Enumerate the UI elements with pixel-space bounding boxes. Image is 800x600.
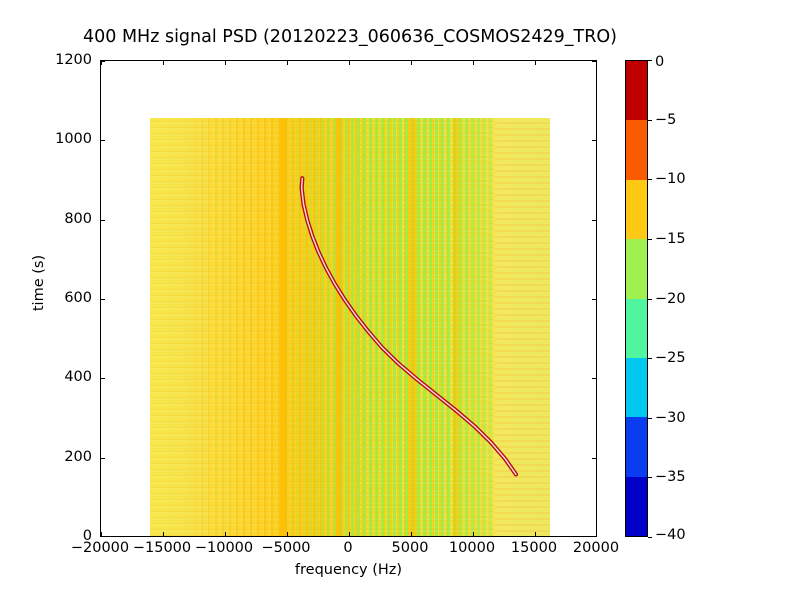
figure-canvas: 400 MHz signal PSD (20120223_060636_COSM…	[0, 0, 800, 600]
colorbar-label-8: −40	[655, 527, 686, 543]
xtick-0	[101, 532, 102, 536]
y-axis-label: time (s)	[31, 223, 47, 343]
colorbar-band-minus35-to-minus40	[626, 477, 647, 536]
ytick-right-6	[592, 61, 596, 62]
colorbar-tick-4	[648, 299, 652, 300]
xticklabel-6: 10000	[449, 540, 495, 556]
xticklabel-3: −5000	[261, 540, 310, 556]
colorbar-tick-2	[648, 179, 652, 180]
ytick-3	[101, 299, 105, 300]
colorbar-label-4: −20	[655, 291, 686, 307]
ytick-right-2	[592, 378, 596, 379]
xtick-top-2	[225, 61, 226, 65]
colorbar-label-2: −10	[655, 171, 686, 187]
ytick-right-4	[592, 220, 596, 221]
yticklabel-5: 1000	[40, 131, 92, 147]
xticklabel-2: −10000	[195, 540, 253, 556]
yticklabel-0: 0	[40, 528, 92, 544]
xtick-top-4	[349, 61, 350, 65]
spectrogram-hot-bars	[150, 118, 550, 537]
page-title: 400 MHz signal PSD (20120223_060636_COSM…	[0, 27, 700, 48]
xtick-top-7	[535, 61, 536, 65]
colorbar-label-5: −25	[655, 350, 686, 366]
xtick-2	[225, 532, 226, 536]
colorbar-tick-6	[648, 418, 652, 419]
colorbar-tick-8	[648, 537, 652, 538]
xticklabel-1: −15000	[133, 540, 191, 556]
spectrogram-image	[150, 118, 550, 537]
xticklabel-7: 15000	[511, 540, 557, 556]
spectrogram-axes	[100, 60, 597, 537]
colorbar-band-minus10-to-minus15	[626, 180, 647, 239]
yticklabel-6: 1200	[40, 52, 92, 68]
xtick-top-5	[411, 61, 412, 65]
colorbar-band-minus25-to-minus30	[626, 358, 647, 417]
colorbar-label-0: 0	[655, 54, 664, 70]
xtick-4	[349, 532, 350, 536]
xtick-1	[163, 532, 164, 536]
colorbar-band-minus5-to-minus10	[626, 120, 647, 179]
colorbar-tick-1	[648, 120, 652, 121]
colorbar-tick-3	[648, 239, 652, 240]
xtick-7	[535, 532, 536, 536]
colorbar-label-3: −15	[655, 231, 686, 247]
colorbar-band-0-to-minus5	[626, 61, 647, 120]
xtick-top-3	[287, 61, 288, 65]
xtick-top-8	[596, 61, 597, 65]
colorbar-label-6: −30	[655, 410, 686, 426]
xtick-3	[287, 532, 288, 536]
ytick-1	[101, 458, 105, 459]
ytick-right-5	[592, 140, 596, 141]
xtick-5	[411, 532, 412, 536]
xtick-6	[473, 532, 474, 536]
ytick-2	[101, 378, 105, 379]
colorbar	[625, 60, 648, 537]
colorbar-band-minus30-to-minus35	[626, 417, 647, 476]
ytick-4	[101, 220, 105, 221]
ytick-right-3	[592, 299, 596, 300]
xtick-top-6	[473, 61, 474, 65]
colorbar-tick-7	[648, 477, 652, 478]
ytick-5	[101, 140, 105, 141]
colorbar-band-minus15-to-minus20	[626, 239, 647, 298]
xticklabel-4: 0	[343, 540, 352, 556]
colorbar-tick-5	[648, 358, 652, 359]
spectrogram-right-wash	[494, 118, 550, 537]
yticklabel-1: 200	[40, 449, 92, 465]
xtick-top-1	[163, 61, 164, 65]
ytick-right-1	[592, 458, 596, 459]
colorbar-label-7: −35	[655, 469, 686, 485]
yticklabel-4: 800	[40, 211, 92, 227]
colorbar-tick-0	[648, 60, 652, 61]
yticklabel-2: 400	[40, 369, 92, 385]
colorbar-band-minus20-to-minus25	[626, 299, 647, 358]
ytick-6	[101, 61, 105, 62]
x-axis-label: frequency (Hz)	[100, 562, 597, 578]
xtick-8	[596, 532, 597, 536]
xticklabel-8: 20000	[573, 540, 619, 556]
yticklabel-3: 600	[40, 290, 92, 306]
colorbar-label-1: −5	[655, 112, 676, 128]
xticklabel-5: 5000	[392, 540, 429, 556]
